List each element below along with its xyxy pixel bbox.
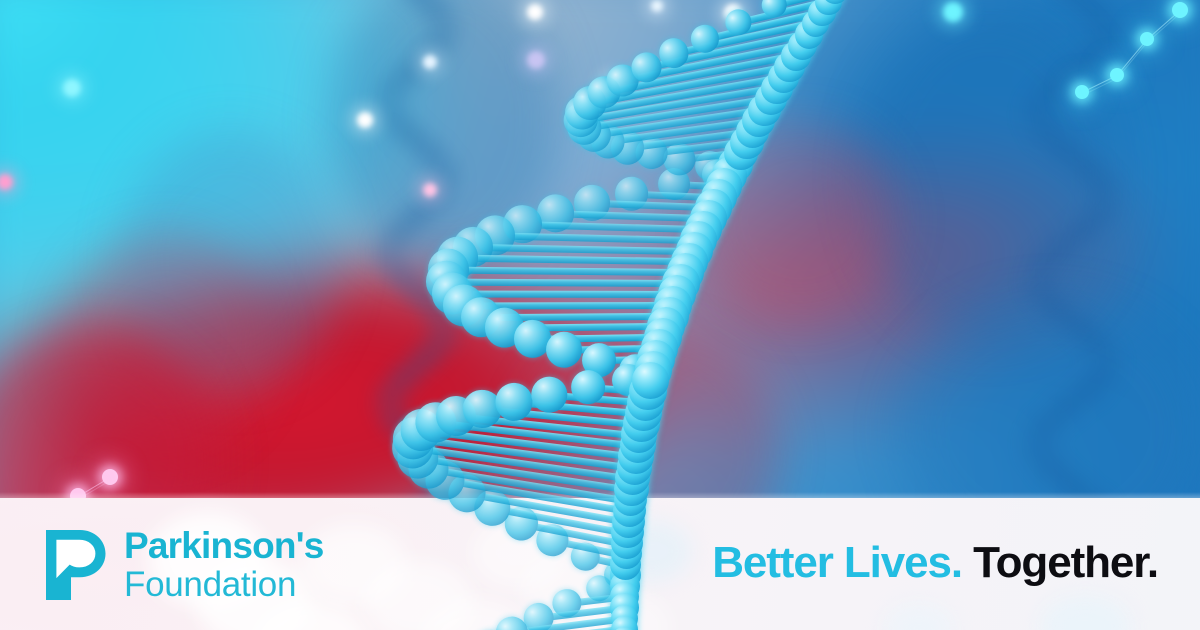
promo-banner: Parkinson's Foundation Better Lives. Tog…	[0, 0, 1200, 630]
network-node	[1172, 2, 1188, 18]
tagline-highlight: Better Lives.	[712, 538, 962, 587]
network-node	[102, 469, 118, 485]
bokeh-dot	[651, 0, 663, 12]
wordmark: Parkinson's Foundation	[124, 527, 323, 602]
bokeh-dot	[357, 112, 373, 128]
bokeh-dot	[423, 183, 437, 197]
tagline: Better Lives. Together.	[712, 538, 1158, 588]
bokeh-dot	[527, 51, 545, 69]
network-node	[1075, 85, 1089, 99]
wordmark-line-foundation: Foundation	[124, 567, 323, 602]
network-node	[1110, 68, 1124, 82]
bokeh-dot	[943, 2, 963, 22]
brand-lockup[interactable]: Parkinson's Foundation	[44, 527, 323, 602]
tagline-plain: Together.	[973, 538, 1158, 587]
bokeh-dot	[63, 79, 81, 97]
network-node	[1140, 32, 1154, 46]
bokeh-dot	[527, 4, 543, 20]
parkinsons-foundation-p-mark-icon	[44, 528, 108, 602]
wordmark-line-parkinsons: Parkinson's	[124, 527, 323, 564]
bokeh-dot	[423, 55, 437, 69]
dna-nucleotide-sphere	[546, 331, 583, 368]
